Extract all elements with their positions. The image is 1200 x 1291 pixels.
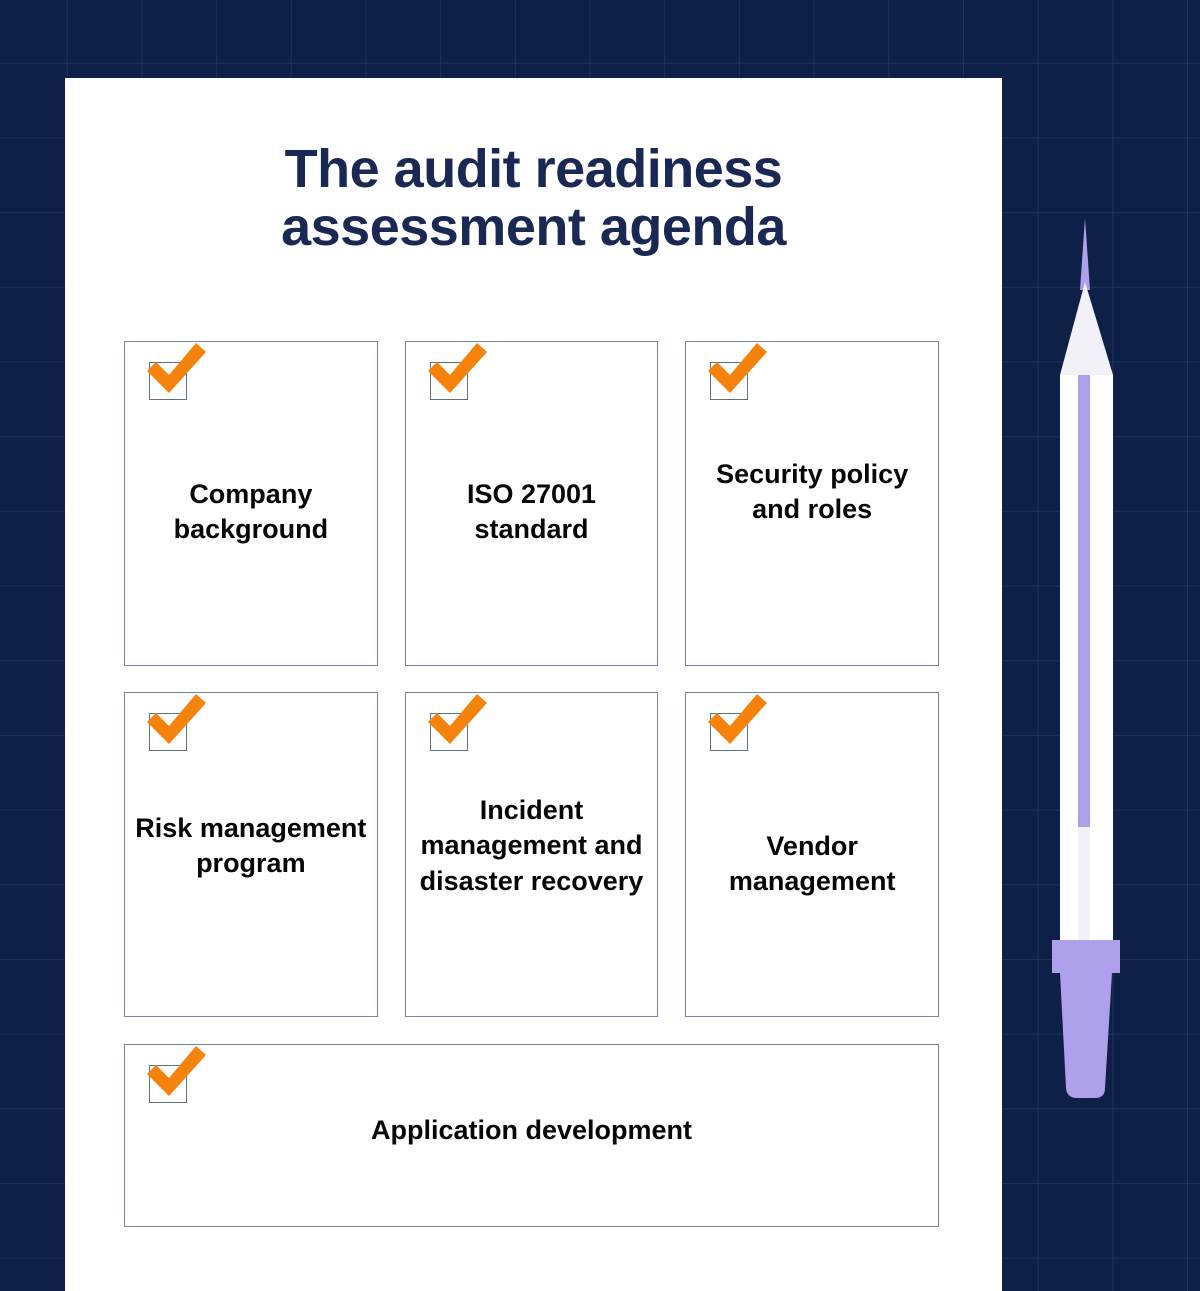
agenda-card-incident-management-and-disaster-recovery[interactable]: Incident management and disaster recover… — [405, 692, 659, 1017]
agenda-card-label: Vendor management — [696, 829, 928, 900]
checkbox-incident-management-and-disaster-recovery[interactable] — [430, 713, 468, 751]
agenda-row-2: Risk management program Incident managem… — [124, 692, 939, 1017]
agenda-card-label: Incident management and disaster recover… — [416, 793, 648, 899]
content-panel: The audit readiness assessment agenda Co… — [65, 78, 1002, 1291]
checkbox-security-policy-and-roles[interactable] — [710, 362, 748, 400]
agenda-card-label: ISO 27001 standard — [416, 477, 648, 548]
agenda-card-vendor-management[interactable]: Vendor management — [685, 692, 939, 1017]
agenda-row-1: Company background ISO 27001 standard — [124, 341, 939, 666]
check-icon — [144, 341, 208, 403]
page-title-line-1: The audit readiness — [285, 139, 783, 199]
agenda-card-risk-management-program[interactable]: Risk management program — [124, 692, 378, 1017]
check-icon — [144, 1044, 208, 1106]
checkbox-application-development[interactable] — [149, 1065, 187, 1103]
agenda-card-label: Risk management program — [135, 811, 367, 882]
page-title: The audit readiness assessment agenda — [65, 140, 1002, 257]
pencil-ferrule — [1052, 940, 1120, 973]
pencil-stripe-upper — [1078, 375, 1090, 827]
agenda-card-label: Security policy and roles — [696, 457, 928, 528]
agenda-row-3: Application development — [124, 1044, 939, 1227]
check-icon — [144, 692, 208, 754]
agenda-card-label: Company background — [135, 477, 367, 548]
check-icon — [425, 341, 489, 403]
check-icon — [425, 692, 489, 754]
page-title-line-2: assessment agenda — [281, 197, 786, 257]
pencil-tip — [1080, 218, 1090, 290]
agenda-card-company-background[interactable]: Company background — [124, 341, 378, 666]
agenda-card-label: Application development — [135, 1113, 928, 1148]
checkbox-risk-management-program[interactable] — [149, 713, 187, 751]
checkbox-iso-27001-standard[interactable] — [430, 362, 468, 400]
check-icon — [705, 341, 769, 403]
pencil-icon — [1040, 210, 1140, 1110]
checkbox-vendor-management[interactable] — [710, 713, 748, 751]
pencil-cone — [1060, 282, 1113, 375]
agenda-card-iso-27001-standard[interactable]: ISO 27001 standard — [405, 341, 659, 666]
check-icon — [705, 692, 769, 754]
agenda-card-application-development[interactable]: Application development — [124, 1044, 939, 1227]
agenda-card-grid: Company background ISO 27001 standard — [124, 341, 939, 1227]
checkbox-company-background[interactable] — [149, 362, 187, 400]
pencil-eraser — [1060, 973, 1112, 1098]
pencil-stripe-lower — [1078, 827, 1090, 940]
agenda-card-security-policy-and-roles[interactable]: Security policy and roles — [685, 341, 939, 666]
